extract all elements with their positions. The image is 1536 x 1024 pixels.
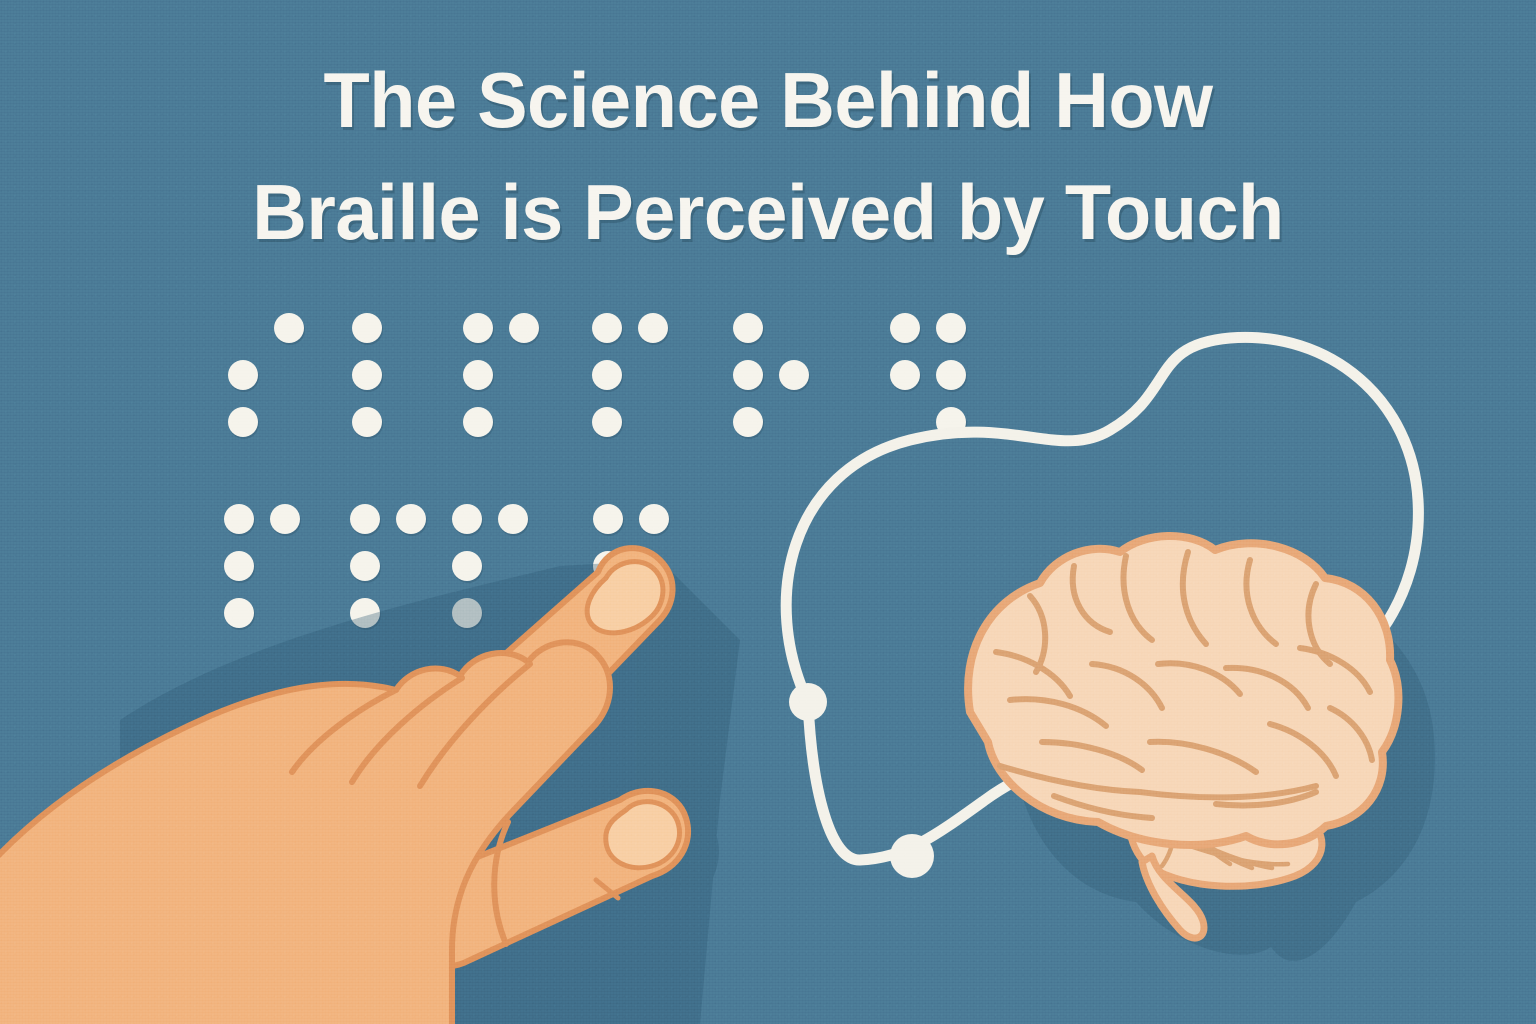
hand-reading-braille [0,0,1536,1024]
illustration-canvas: The Science Behind How Braille is Percei… [0,0,1536,1024]
